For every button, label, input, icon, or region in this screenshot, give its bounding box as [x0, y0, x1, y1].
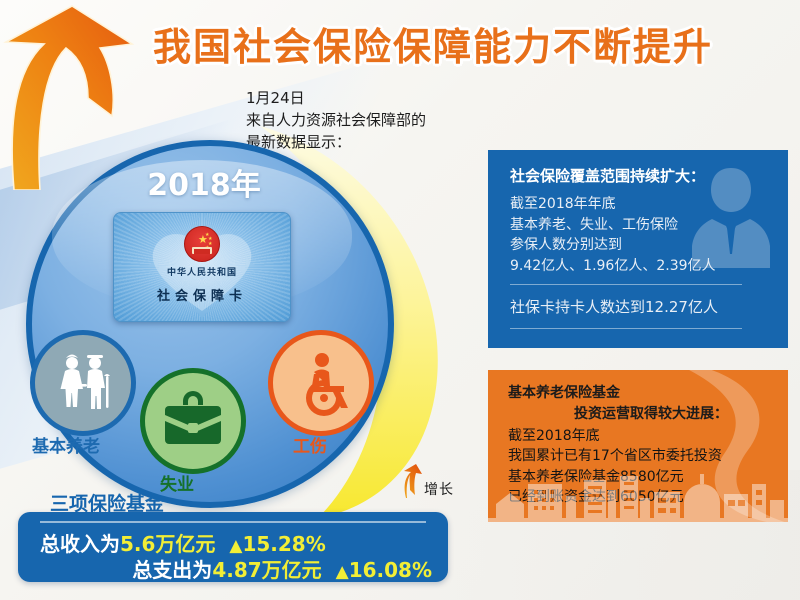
page-title: 我国社会保险保障能力不断提升: [128, 14, 738, 72]
total-expense-percent: 16.08%: [349, 558, 432, 582]
year-label: 2018年: [26, 160, 382, 204]
coverage-panel: 社会保险覆盖范围持续扩大： 截至2018年年底 基本养老、失业、工伤保险 参保人…: [488, 150, 788, 348]
elderly-couple-icon: [48, 348, 118, 418]
insurance-label-pension: 基本养老: [32, 432, 100, 457]
total-income-value: 5.6万亿元: [120, 532, 215, 556]
pension-fund-title-line2: 投资运营取得较大进展：: [574, 403, 728, 423]
intro-line-1: 1月24日: [246, 88, 486, 110]
city-skyline-icon: [488, 470, 788, 522]
total-income-percent: 15.28%: [242, 532, 325, 556]
coverage-line-3: 参保人数分别达到: [510, 235, 716, 256]
pension-line-1: 截至2018年底: [508, 426, 722, 446]
intro-line-3: 最新数据显示：: [246, 132, 486, 154]
briefcase-icon: [160, 391, 226, 451]
pension-fund-title-line1: 基本养老保险基金: [508, 382, 620, 402]
total-income-prefix: 总收入为: [40, 532, 120, 556]
total-expense-prefix: 总支出为: [132, 558, 212, 582]
pension-fund-panel: 基本养老保险基金 投资运营取得较大进展： 截至2018年底 我国累计已有17个省…: [488, 370, 788, 522]
pension-line-2: 我国累计已有17个省区市委托投资: [508, 446, 722, 466]
coverage-divider-top: [510, 284, 742, 285]
card-holders-text: 社保卡持卡人数达到12.27亿人: [510, 296, 718, 317]
coverage-panel-title: 社会保险覆盖范围持续扩大：: [510, 165, 705, 186]
total-expense-value: 4.87万亿元: [212, 558, 321, 582]
growth-label: 增长: [424, 479, 454, 499]
insurance-icon-pension[interactable]: [30, 330, 136, 436]
insurance-icon-unemployment[interactable]: [140, 368, 246, 474]
insurance-label-work-injury: 工伤: [293, 432, 327, 457]
coverage-panel-body: 截至2018年年底 基本养老、失业、工伤保险 参保人数分别达到 9.42亿人、1…: [510, 194, 716, 277]
total-expense-row: 总支出为4.87万亿元 ▲16.08%: [132, 554, 432, 583]
total-income-row: 总收入为5.6万亿元 ▲15.28%: [40, 528, 326, 557]
infographic-canvas: 我国社会保险保障能力不断提升 1月24日 来自人力资源社会保障部的 最新数据显示…: [0, 0, 800, 600]
intro-text: 1月24日 来自人力资源社会保障部的 最新数据显示：: [246, 88, 486, 153]
totals-bar: 总收入为5.6万亿元 ▲15.28% 总支出为4.87万亿元 ▲16.08%: [18, 512, 448, 582]
coverage-divider-bottom: [510, 328, 742, 329]
card-country-text: 中华人民共和国: [114, 265, 290, 278]
national-emblem-icon: ★★ ★★ ★: [184, 226, 220, 262]
page-title-text: 我国社会保险保障能力不断提升: [153, 16, 713, 71]
wheelchair-icon: [288, 350, 354, 416]
card-name-text: 社会保障卡: [114, 285, 290, 304]
insurance-icon-work-injury[interactable]: [268, 330, 374, 436]
social-security-card: ★★ ★★ ★ 中华人民共和国 社会保障卡: [113, 212, 291, 322]
insurance-label-unemployment: 失业: [160, 470, 194, 495]
intro-line-2: 来自人力资源社会保障部的: [246, 110, 486, 132]
coverage-line-4: 9.42亿人、1.96亿人、2.39亿人: [510, 256, 716, 277]
total-expense-triangle-icon: ▲: [336, 562, 349, 582]
coverage-line-1: 截至2018年年底: [510, 194, 716, 215]
total-income-triangle-icon: ▲: [229, 536, 242, 556]
growth-up-arrow-icon: [398, 464, 424, 498]
coverage-line-2: 基本养老、失业、工伤保险: [510, 215, 716, 236]
totals-bar-divider: [40, 521, 426, 523]
